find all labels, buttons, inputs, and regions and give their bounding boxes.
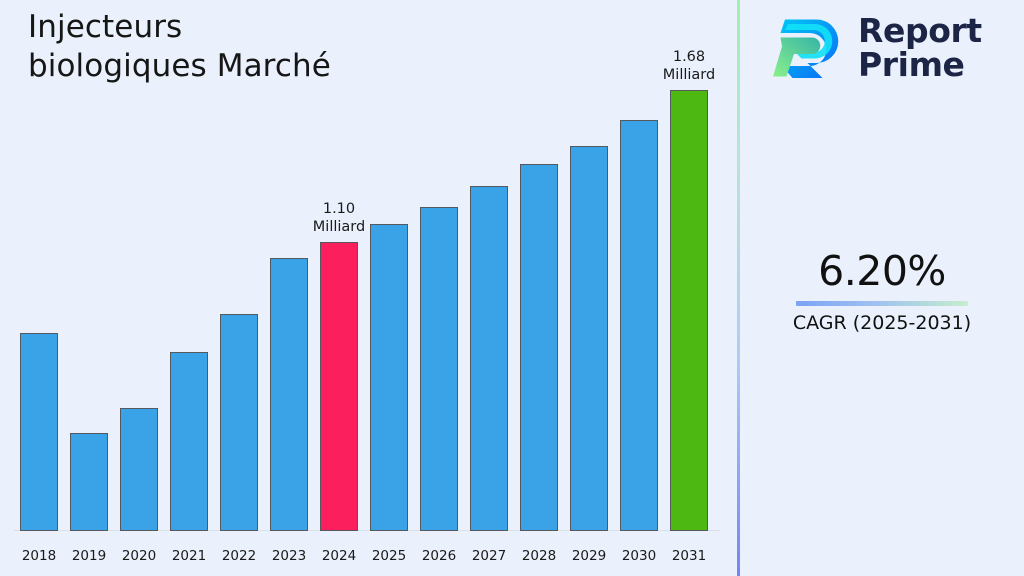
bar-2018[interactable] [20,333,58,531]
x-axis-label-2024: 2024 [314,548,364,564]
cagr-caption: CAGR (2025-2031) [740,312,1024,335]
bar-chart-plot-area: 2018201920202021202220231.10 Milliard202… [0,0,738,576]
bar-2023[interactable] [270,258,308,531]
bar-2026[interactable] [420,207,458,531]
bar-2024[interactable] [320,242,358,531]
bar-2020[interactable] [120,408,158,531]
report-prime-logo-mark [768,12,844,84]
logo-wordmark: Report Prime [858,14,982,83]
x-axis-label-2019: 2019 [64,548,114,564]
cagr-block: 6.20% CAGR (2025-2031) [740,248,1024,335]
bar-2028[interactable] [520,164,558,531]
report-prime-logo[interactable]: Report Prime [768,12,982,84]
bar-2022[interactable] [220,314,258,531]
bar-2030[interactable] [620,120,658,531]
cagr-value: 6.20% [740,248,1024,295]
bar-2029[interactable] [570,146,608,531]
x-axis-label-2022: 2022 [214,548,264,564]
x-axis-label-2026: 2026 [414,548,464,564]
bar-value-label-2024: 1.10 Milliard [302,200,376,236]
x-axis-label-2031: 2031 [664,548,714,564]
brand-panel: Report Prime 6.20% CAGR (2025-2031) [740,0,1024,576]
x-axis-label-2028: 2028 [514,548,564,564]
x-axis-label-2018: 2018 [14,548,64,564]
x-axis-label-2021: 2021 [164,548,214,564]
chart-panel: Injecteurs biologiques Marché 2018201920… [0,0,738,576]
x-axis-label-2030: 2030 [614,548,664,564]
bar-2021[interactable] [170,352,208,531]
x-axis-label-2020: 2020 [114,548,164,564]
x-axis-label-2025: 2025 [364,548,414,564]
x-axis-label-2027: 2027 [464,548,514,564]
cagr-divider-rule [796,301,968,306]
bar-2025[interactable] [370,224,408,531]
x-axis-label-2029: 2029 [564,548,614,564]
bar-2031[interactable] [670,90,708,531]
x-axis-label-2023: 2023 [264,548,314,564]
bar-value-label-2031: 1.68 Milliard [652,48,726,84]
bar-2027[interactable] [470,186,508,531]
bar-2019[interactable] [70,433,108,531]
